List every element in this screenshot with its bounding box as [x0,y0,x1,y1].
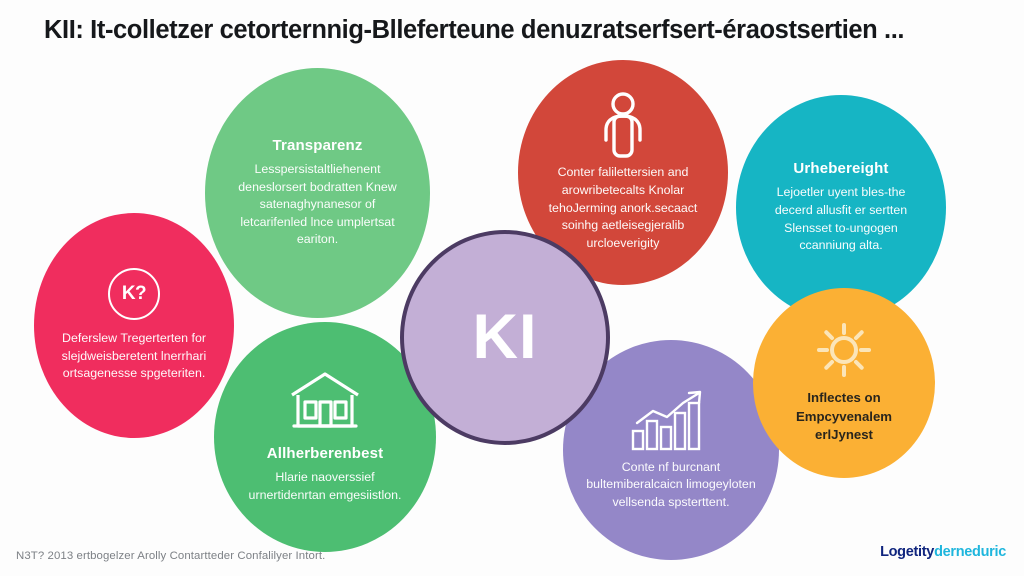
footer-note: N3T? 2013 ertbogelzer Arolly Contarttede… [16,550,325,562]
bubble-allherberenbest-heading: Allherberenbest [267,445,383,462]
gear-icon [815,321,873,379]
bubble-urheberecht-body: Lejoetler uyent bles-the decerd allusfit… [736,184,946,254]
bubble-transparenz[interactable]: Transparenz Lesspersistaltliehenent dene… [205,68,430,318]
building-icon [286,369,364,431]
bubble-pink[interactable]: K? Deferslew Tregerterten for slejdweisb… [34,213,234,438]
infographic-canvas: KII: It-colletzer cetorternnig-Blleferte… [0,0,1024,576]
bar-chart-growth-icon [629,389,713,451]
bubble-transparenz-body: Lesspersistaltliehenent deneslorsert bod… [205,161,430,249]
k-question-badge-label: K? [108,268,160,320]
bubble-urheberecht-heading: Urhebereight [793,160,888,177]
k-question-badge-icon: K? [108,268,160,320]
bubble-growth-chart-body: Conte nf burcnant bultemiberalcaicn limo… [563,459,779,512]
bubble-transparenz-heading: Transparenz [272,137,362,154]
person-icon [597,92,649,158]
bubble-allherberenbest-body: Hlarie naoverssief urnertidenrtan emgesi… [214,469,436,504]
bubble-gear[interactable]: Inflectes on Empcyvenalem erlJynest [753,288,935,478]
bubble-urheberecht[interactable]: Urhebereight Lejoetler uyent bles-the de… [736,95,946,320]
brand-logo: Logetityderneduric [880,544,1006,560]
central-node-label: KI [473,306,538,369]
bubble-gear-body: Inflectes on Empcyvenalem erlJynest [753,389,935,445]
brand-logo-part2: derneduric [934,544,1006,560]
bubble-pink-body: Deferslew Tregerterten for slejdweisbere… [34,330,234,383]
page-title: KII: It-colletzer cetorternnig-Blleferte… [44,16,994,45]
central-node[interactable]: KI [400,230,610,445]
brand-logo-part1: Logetity [880,544,934,560]
